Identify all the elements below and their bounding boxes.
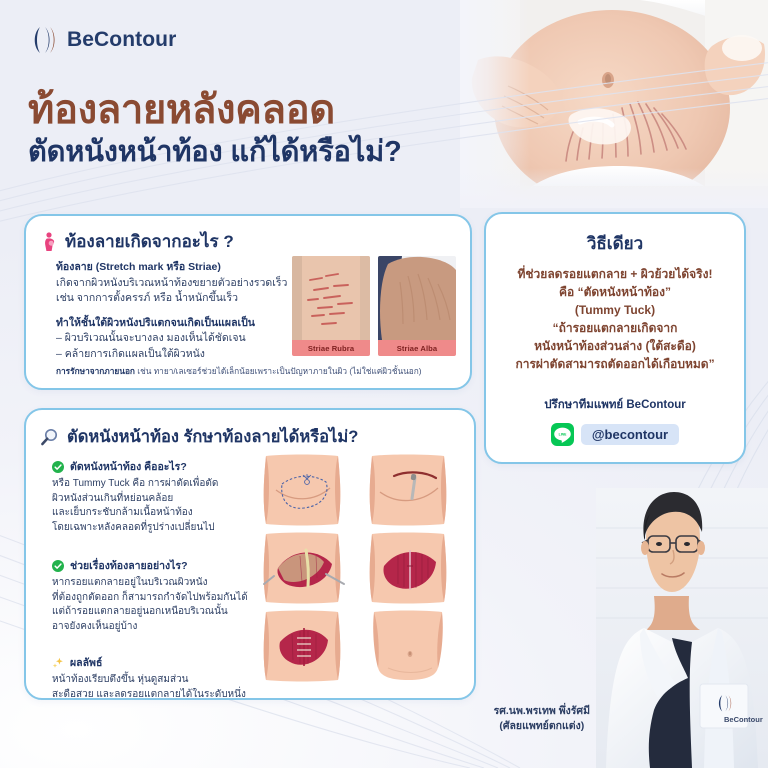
card-causes-text: ท้องลาย (Stretch mark หรือ Striae) เกิดจ… [56, 260, 308, 362]
solution-line-3: “ถ้ารอยแตกลายเกิดจาก [498, 319, 732, 337]
photo-bottom-fade [460, 168, 768, 208]
figure-2-graphic [358, 454, 458, 526]
treatment-block-0-heading: ตัดหนังหน้าท้อง คืออะไร? [70, 458, 187, 475]
solution-line-1: คือ “ตัดหนังหน้าท้อง” [498, 283, 732, 301]
striae-alba-item: Striae Alba [378, 256, 456, 356]
doctor-name: รศ.นพ.พรเทพ พึ่งรัศมี [494, 704, 590, 719]
tummy-tuck-step-1-incision-marking [252, 454, 352, 526]
treatment-block-1-line-0: หากรอยแตกลายอยู่ในบริเวณผิวหนัง [52, 576, 270, 591]
solution-line-5: การผ่าตัดสามารถตัดออกได้เกือบหมด” [498, 355, 732, 373]
line-app-icon[interactable]: LINE [551, 423, 574, 446]
svg-text:BeContour: BeContour [724, 715, 763, 724]
solution-consult-text: ปรึกษาทีมแพทย์ BeContour [486, 396, 744, 414]
brand-name: BeContour [67, 28, 176, 52]
card-treatment: ตัดหนังหน้าท้อง รักษาท้องลายได้หรือไม่? … [24, 408, 476, 700]
figure-6-graphic [358, 610, 458, 682]
tummy-tuck-figure-grid [252, 454, 458, 682]
causes-block-1-heading: ทำให้ชั้นใต้ผิวหนังปริแตกจนเกิดเป็นแผลเป… [56, 316, 308, 332]
infographic-page: BeContour ท้องลายหลังคลอด ตัดหนังหน้าท้อ… [0, 0, 768, 768]
figure-4-graphic [358, 532, 458, 604]
striae-rubra-photo [292, 256, 370, 340]
causes-block-1-line-0: – ผิวบริเวณนั้นจะบางลง มองเห็นได้ชัดเจน [56, 331, 308, 347]
causes-block-1: ทำให้ชั้นใต้ผิวหนังปริแตกจนเกิดเป็นแผลเป… [56, 316, 308, 363]
line-contact-badge[interactable]: LINE @becontour [486, 423, 744, 446]
tummy-tuck-step-2-incision-made [358, 454, 458, 526]
causes-block-0: ท้องลาย (Stretch mark หรือ Striae) เกิดจ… [56, 260, 308, 307]
causes-footnote-strong: การรักษาจากภายนอก [56, 366, 135, 376]
treatment-block-0-line-0: หรือ Tummy Tuck คือ การผ่าตัดเพื่อตัด [52, 477, 270, 492]
brand-logo[interactable]: BeContour [30, 25, 176, 55]
striae-rubra-item: Striae Rubra [292, 256, 370, 356]
card-causes-title-row: ท้องลายเกิดจากอะไร ? [42, 228, 470, 255]
striae-alba-graphic [378, 256, 456, 340]
treatment-block-1: ช่วยเรื่องท้องลายอย่างไร? หากรอยแตกลายอย… [52, 557, 270, 634]
header-hero-photo [460, 0, 768, 208]
causes-block-0-heading: ท้องลาย (Stretch mark หรือ Striae) [56, 260, 308, 276]
green-check-icon [52, 560, 64, 572]
tummy-tuck-step-4-muscle-exposed [358, 532, 458, 604]
treatment-block-0-line-2: และเย็บกระชับกล้ามเนื้อหน้าท้อง [52, 506, 270, 521]
treatment-block-2-line-1: สะดือสวย และลดรอยแตกลายได้ในระดับหนึ่ง [52, 688, 270, 703]
sparkle-icon [52, 657, 64, 669]
figure-5-graphic [252, 610, 352, 682]
card-solution: วิธีเดียว ที่ช่วยลดรอยแตกลาย + ผิวย้วยได… [484, 212, 746, 464]
treatment-block-2-line-0: หน้าท้องเรียบตึงขึ้น หุ่นดูสมส่วน [52, 673, 270, 688]
striae-rubra-caption: Striae Rubra [292, 340, 370, 356]
card-treatment-text: ตัดหนังหน้าท้อง คืออะไร? หรือ Tummy Tuck… [52, 458, 270, 716]
magnifier-icon [40, 428, 59, 447]
doctor-illustration: BeContour [596, 488, 768, 768]
treatment-block-2-heading: ผลลัพธ์ [70, 654, 102, 671]
treatment-block-0-line-3: โดยเฉพาะหลังคลอดที่รูปร่างเปลี่ยนไป [52, 521, 270, 536]
solution-lines: ที่ช่วยลดรอยแตกลาย + ผิวย้วยได้จริง! คือ… [498, 265, 732, 373]
page-title: ท้องลายหลังคลอด ตัดหนังหน้าท้อง แก้ได้หร… [28, 88, 488, 170]
tummy-tuck-step-3-skin-flap-lifted [252, 532, 352, 604]
solution-line-0: ที่ช่วยลดรอยแตกลาย + ผิวย้วยได้จริง! [498, 265, 732, 283]
card-causes: ท้องลายเกิดจากอะไร ? ท้องลาย (Stretch ma… [24, 214, 472, 390]
figure-1-graphic [252, 454, 352, 526]
figure-3-graphic [252, 532, 352, 604]
card-treatment-title: ตัดหนังหน้าท้อง รักษาท้องลายได้หรือไม่? [67, 424, 358, 450]
doctor-caption: รศ.นพ.พรเทพ พึ่งรัศมี (ศัลยแพทย์ตกแต่ง) [494, 704, 590, 734]
treatment-block-1-heading: ช่วยเรื่องท้องลายอย่างไร? [70, 557, 188, 574]
treatment-block-1-line-2: แต่ถ้ารอยแตกลายอยู่นอกเหนือบริเวณนั้น [52, 605, 270, 620]
becontour-logo-mark-icon [30, 25, 58, 55]
causes-footnote-rest: เช่น ทายา/เลเซอร์ช่วยได้เล็กน้อยเพราะเป็… [135, 366, 422, 376]
doctor-specialty: (ศัลยแพทย์ตกแต่ง) [494, 719, 590, 734]
svg-text:LINE: LINE [559, 432, 567, 436]
headline-line-2: ตัดหนังหน้าท้อง แก้ได้หรือไม่? [28, 135, 488, 170]
striae-rubra-graphic [292, 256, 370, 340]
card-causes-title: ท้องลายเกิดจากอะไร ? [65, 228, 234, 255]
striae-alba-caption: Striae Alba [378, 340, 456, 356]
causes-footnote: การรักษาจากภายนอก เช่น ทายา/เลเซอร์ช่วยไ… [56, 366, 456, 377]
line-glyph-icon: LINE [551, 423, 574, 446]
tummy-tuck-step-6-final-result [358, 610, 458, 682]
green-check-icon [52, 461, 64, 473]
treatment-block-1-line-3: อาจยังคงเห็นอยู่บ้าง [52, 620, 270, 635]
solution-line-4: หนังหน้าท้องส่วนล่าง (ใต้สะดือ) [498, 337, 732, 355]
treatment-block-1-line-1: ที่ต้องถูกตัดออก ก็สามารถกำจัดไปพร้อมกัน… [52, 591, 270, 606]
tummy-tuck-step-5-muscle-plication [252, 610, 352, 682]
treatment-block-1-head: ช่วยเรื่องท้องลายอย่างไร? [52, 557, 270, 574]
card-treatment-title-row: ตัดหนังหน้าท้อง รักษาท้องลายได้หรือไม่? [40, 424, 474, 450]
treatment-block-2: ผลลัพธ์ หน้าท้องเรียบตึงขึ้น หุ่นดูสมส่ว… [52, 654, 270, 702]
treatment-block-0-line-1: ผิวหนังส่วนเกินที่หย่อนคล้อย [52, 492, 270, 507]
causes-block-0-line-0: เกิดจากผิวหนังบริเวณหน้าท้องขยายตัวอย่าง… [56, 276, 308, 292]
causes-block-1-line-1: – คล้ายการเกิดแผลเป็นใต้ผิวหนัง [56, 347, 308, 363]
treatment-block-2-head: ผลลัพธ์ [52, 654, 270, 671]
card-solution-inner: วิธีเดียว ที่ช่วยลดรอยแตกลาย + ผิวย้วยได… [486, 214, 744, 373]
causes-block-0-line-1: เช่น จากการตั้งครรภ์ หรือ น้ำหนักขึ้นเร็… [56, 291, 308, 307]
solution-line-2: (Tummy Tuck) [498, 301, 732, 319]
doctor-portrait-photo: BeContour [596, 488, 768, 768]
treatment-block-0: ตัดหนังหน้าท้อง คืออะไร? หรือ Tummy Tuck… [52, 458, 270, 535]
pregnant-woman-icon [42, 232, 57, 252]
striae-image-group: Striae Rubra [292, 256, 456, 356]
treatment-block-0-head: ตัดหนังหน้าท้อง คืออะไร? [52, 458, 270, 475]
striae-alba-photo [378, 256, 456, 340]
solution-title: วิธีเดียว [498, 230, 732, 257]
line-handle-text[interactable]: @becontour [581, 424, 679, 445]
headline-line-1: ท้องลายหลังคลอด [28, 88, 488, 133]
